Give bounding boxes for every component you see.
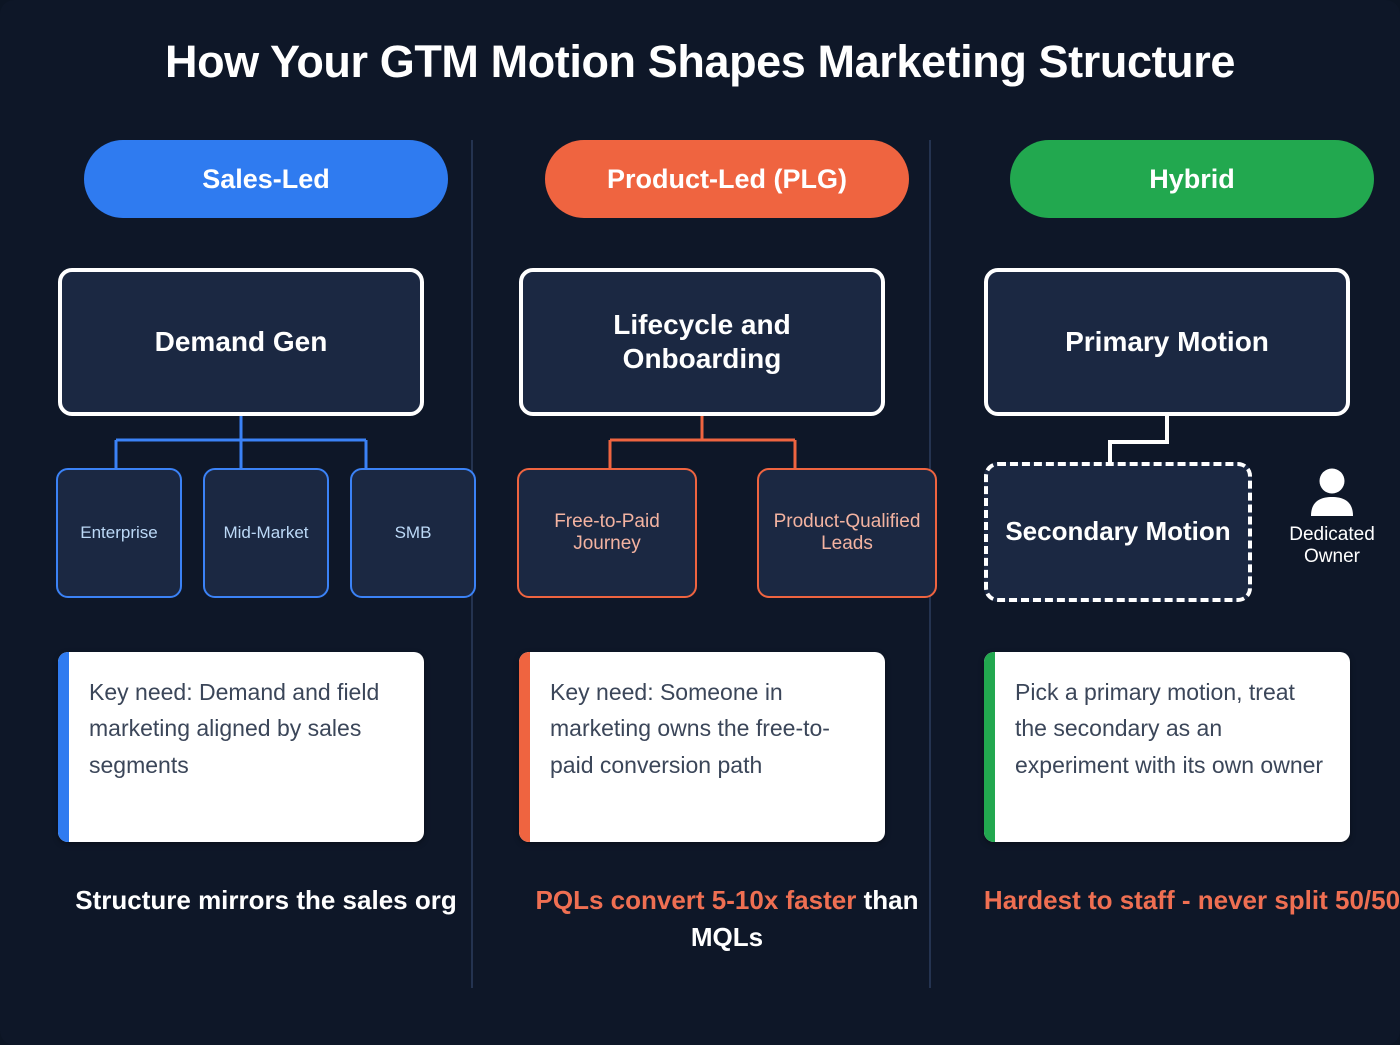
node-lifecycle-onboarding: Lifecycle and Onboarding — [519, 268, 885, 416]
key-need-card-product-led: Key need: Someone in marketing owns the … — [519, 652, 885, 842]
key-need-card-hybrid: Pick a primary motion, treat the seconda… — [984, 652, 1350, 842]
footer-note-sales-led: Structure mirrors the sales org — [56, 882, 476, 919]
column-sales-led: Sales-Led Demand Gen Enterprise Mid-Mark… — [56, 140, 476, 1000]
footer-accent-text: PQLs convert 5-10x faster — [536, 885, 857, 915]
column-product-led: Product-Led (PLG) Lifecycle and Onboardi… — [517, 140, 937, 1000]
node-secondary-motion[interactable]: Secondary Motion — [984, 462, 1252, 602]
node-primary-motion: Primary Motion — [984, 268, 1350, 416]
column-hybrid: Hybrid Primary Motion Secondary Motion D… — [982, 140, 1400, 1000]
pill-product-led[interactable]: Product-Led (PLG) — [545, 140, 909, 218]
footer-note-product-led: PQLs convert 5-10x faster than MQLs — [517, 882, 937, 956]
key-need-accent-bar — [519, 652, 530, 842]
sub-node-smb[interactable]: SMB — [350, 468, 476, 598]
node-demand-gen: Demand Gen — [58, 268, 424, 416]
key-need-text: Key need: Someone in marketing owns the … — [530, 652, 885, 842]
pill-sales-led[interactable]: Sales-Led — [84, 140, 448, 218]
sub-node-row-segments: Enterprise Mid-Market SMB — [56, 468, 476, 598]
dedicated-owner-label: Dedicated Owner — [1270, 524, 1394, 568]
key-need-text: Pick a primary motion, treat the seconda… — [995, 652, 1350, 842]
key-need-card-sales-led: Key need: Demand and field marketing ali… — [58, 652, 424, 842]
key-need-accent-bar — [58, 652, 69, 842]
sub-node-product-qualified-leads[interactable]: Product-Qualified Leads — [757, 468, 937, 598]
footer-note-hybrid: Hardest to staff - never split 50/50 — [982, 882, 1400, 919]
pill-hybrid[interactable]: Hybrid — [1010, 140, 1374, 218]
infographic-page: How Your GTM Motion Shapes Marketing Str… — [0, 0, 1400, 1045]
person-icon — [1305, 468, 1359, 518]
sub-node-mid-market[interactable]: Mid-Market — [203, 468, 329, 598]
sub-node-row-plg: Free-to-Paid Journey Product-Qualified L… — [517, 468, 937, 598]
key-need-accent-bar — [984, 652, 995, 842]
page-title: How Your GTM Motion Shapes Marketing Str… — [0, 36, 1400, 88]
sub-node-free-to-paid-journey[interactable]: Free-to-Paid Journey — [517, 468, 697, 598]
sub-node-enterprise[interactable]: Enterprise — [56, 468, 182, 598]
footer-plain-text: Structure mirrors the sales org — [75, 885, 456, 915]
key-need-text: Key need: Demand and field marketing ali… — [69, 652, 424, 842]
hybrid-secondary-row: Secondary Motion Dedicated Owner — [982, 462, 1400, 602]
dedicated-owner-group: Dedicated Owner — [1270, 468, 1394, 568]
footer-accent-text: Hardest to staff - never split 50/50 — [984, 885, 1400, 915]
